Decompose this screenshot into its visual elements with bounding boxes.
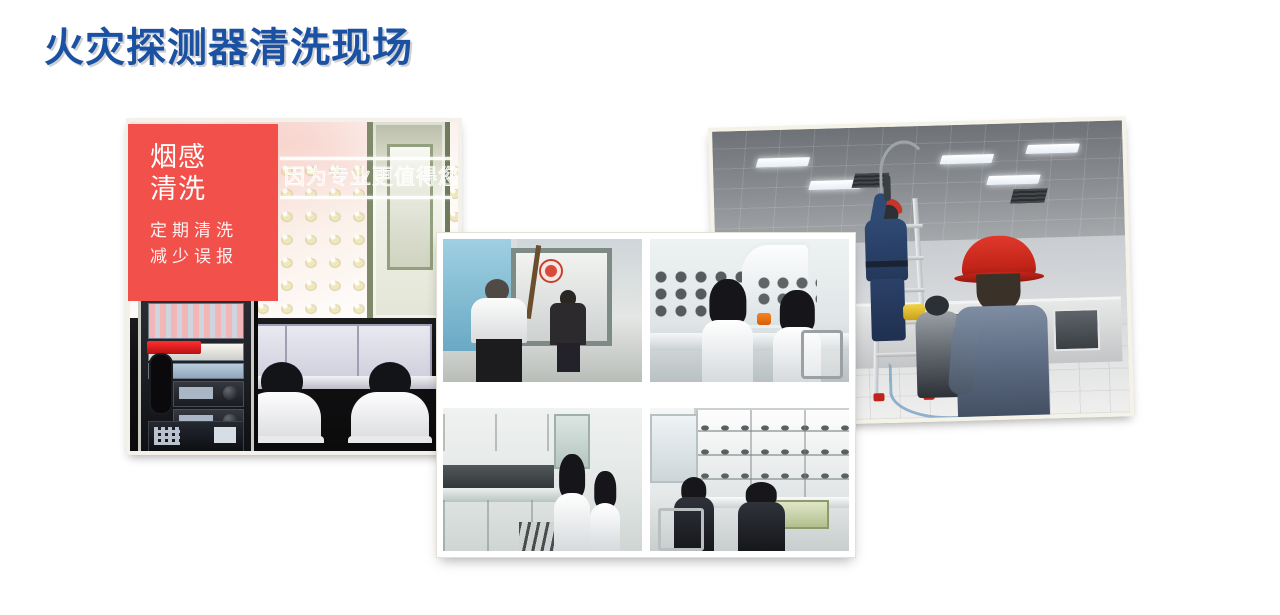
ceiling-light (1025, 144, 1080, 155)
technician-lab-coat (554, 493, 590, 551)
person-shirt (550, 303, 586, 345)
technician-assisting (590, 471, 620, 551)
technician-lab-coat (590, 503, 620, 551)
panel-keypad (154, 427, 180, 445)
climber-torso (865, 218, 909, 281)
panel-module-upper (173, 381, 244, 407)
supervisor-arm (948, 322, 979, 396)
collage-cell-washing[interactable] (443, 408, 642, 551)
ceiling-light (756, 157, 811, 168)
technician-hair (559, 454, 585, 499)
fire-alarm-control-panel (138, 294, 254, 451)
collage-grid (443, 239, 849, 551)
panel-screen (214, 427, 236, 443)
staff-seated-right (738, 482, 786, 551)
orange-tool (757, 313, 771, 325)
cleaning-tool (883, 175, 891, 201)
panel-red-strip (147, 341, 201, 354)
worker-chair (348, 436, 432, 451)
emergency-phone-handset (151, 355, 171, 413)
office-chair (801, 330, 843, 379)
promo-subline-2: 减少误报 (150, 244, 278, 270)
ceiling-light (940, 154, 995, 165)
wall-panel (650, 414, 698, 484)
wash-basin (443, 465, 554, 491)
module-display (179, 387, 213, 399)
panel-button-bank (148, 303, 244, 339)
climber-legs (870, 278, 906, 341)
slogan-overlay: 因为专业更值得您的信赖 (280, 146, 452, 210)
collage-caption (443, 382, 849, 408)
collage-cell-inspection[interactable] (443, 239, 642, 382)
supervisor-red-helmet (951, 234, 1052, 423)
ladder-foot (873, 393, 884, 401)
photo-collage-card[interactable] (436, 232, 856, 558)
emblem-icon (539, 259, 563, 283)
slogan-text: 因为专业更值得您的信赖 (280, 160, 452, 195)
staff-uniform (738, 502, 786, 551)
metal-chair (658, 508, 704, 551)
inspector-foreground (467, 279, 531, 382)
technician-seated-left (702, 279, 754, 382)
worker-background (550, 290, 586, 370)
climber-belt (866, 260, 908, 267)
slogan-rule-bottom (280, 196, 452, 199)
collage-cell-testing-bench[interactable] (650, 239, 849, 382)
lab-worker-right (342, 362, 438, 451)
collage-cell-storage-shelves[interactable] (650, 408, 849, 551)
person-trousers (557, 343, 580, 372)
module-knob (223, 386, 237, 400)
ceiling-vent (1010, 188, 1048, 203)
ceiling-light (986, 175, 1041, 186)
promo-badge[interactable]: 烟感 清洗 定期清洗 减少误报 (128, 124, 278, 301)
person-trousers (476, 339, 522, 382)
panel-base-unit (148, 421, 244, 451)
person-shirt (471, 298, 527, 343)
promo-headline-line2: 清洗 (150, 174, 278, 206)
page-title: 火灾探测器清洗现场 (44, 26, 413, 70)
promo-headline-line1: 烟感 (150, 142, 278, 174)
console-panel (1053, 308, 1100, 351)
technician-lab-coat (702, 320, 754, 382)
promo-subline-1: 定期清洗 (150, 218, 278, 244)
technician-washing (554, 454, 590, 551)
